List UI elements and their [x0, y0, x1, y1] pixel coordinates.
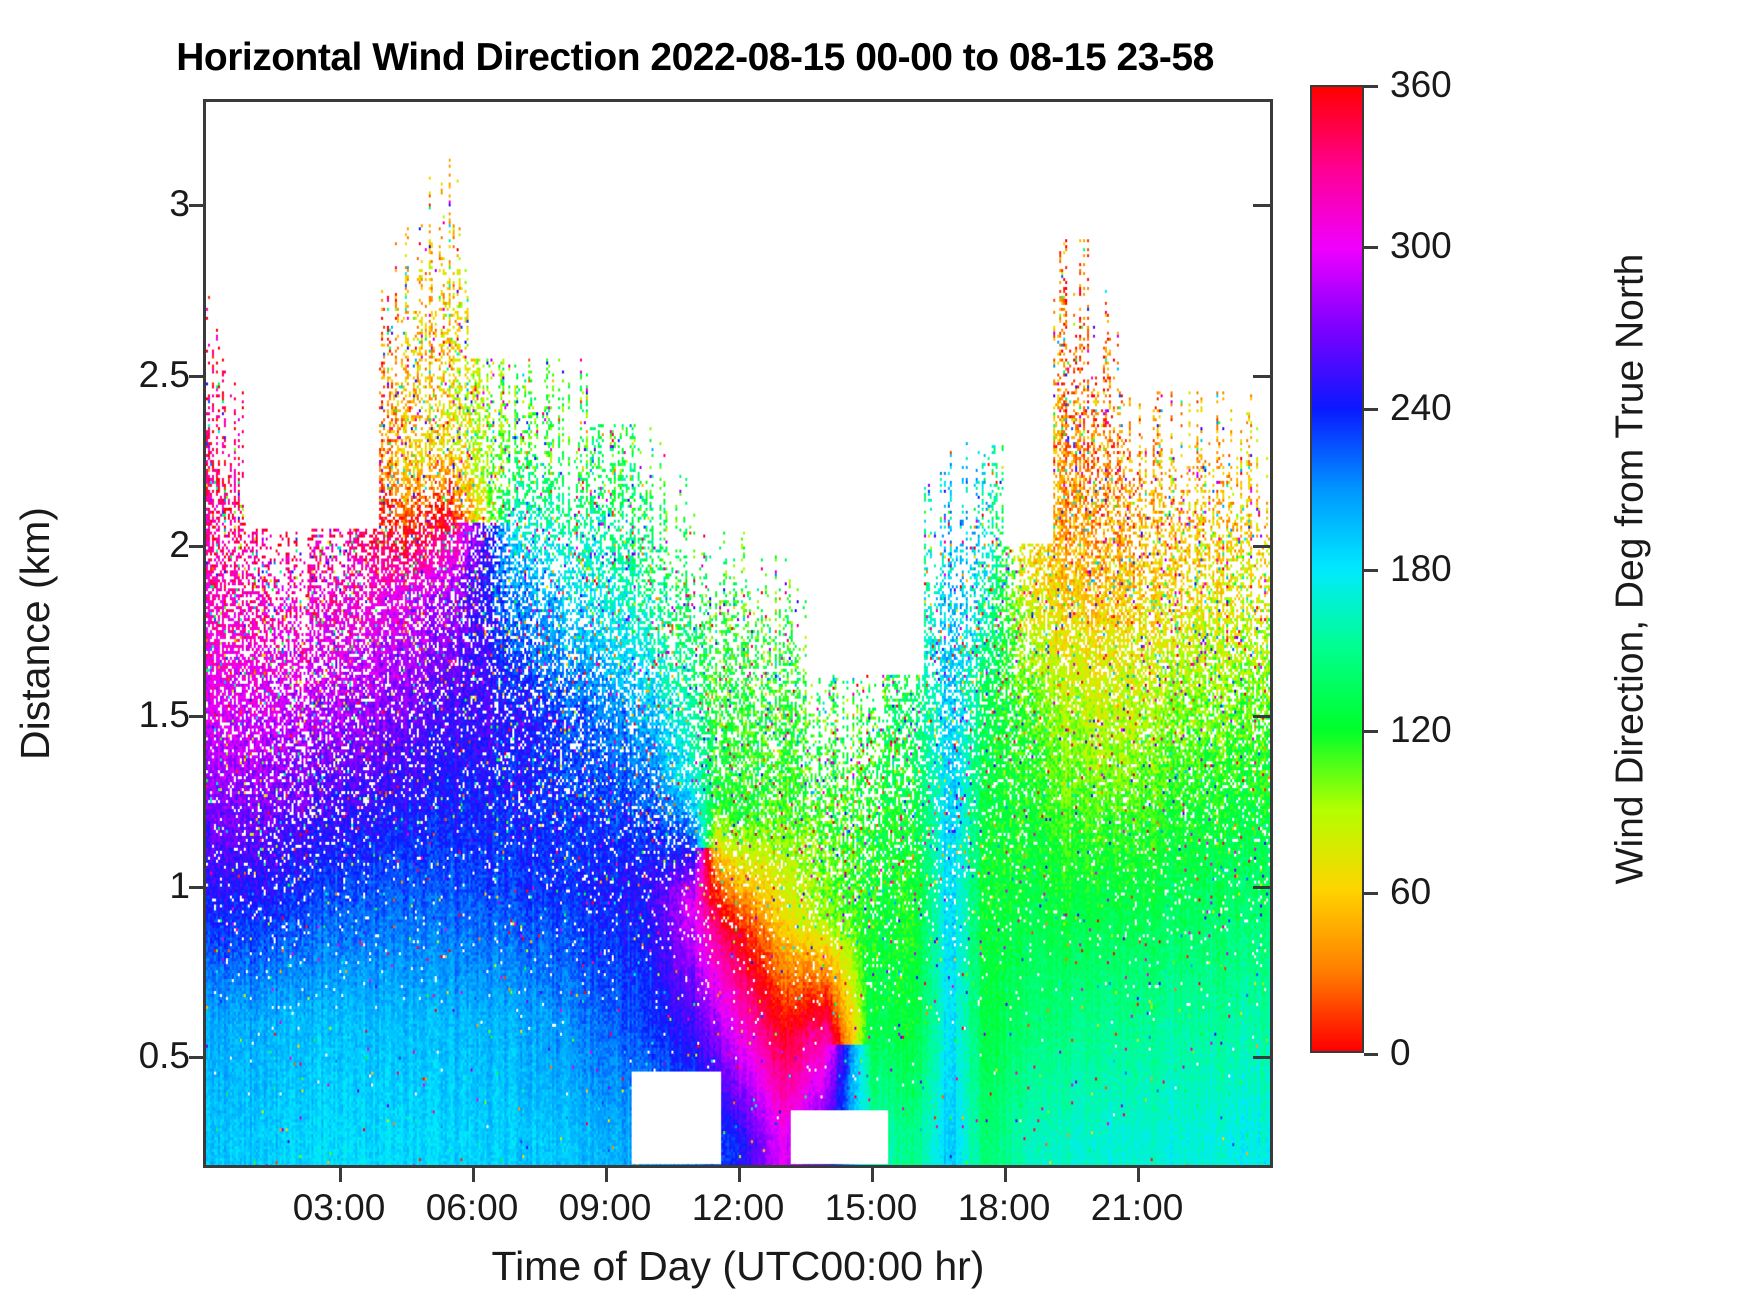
y-axis-tick-inner — [1253, 375, 1270, 378]
x-axis-tick — [1004, 1165, 1007, 1182]
colorbar-tick-label: 360 — [1390, 64, 1452, 106]
y-axis-tick-label: 0.5 — [139, 1035, 190, 1077]
x-axis-tick-label: 03:00 — [293, 1187, 386, 1229]
y-axis-tick-inner — [1253, 204, 1270, 207]
colorbar-tick-label: 120 — [1390, 709, 1452, 751]
wind-direction-heatmap — [206, 102, 1270, 1165]
page-title: Horizontal Wind Direction 2022-08-15 00-… — [0, 36, 1390, 80]
y-axis-tick-inner — [1253, 886, 1270, 889]
y-axis-label: Distance (km) — [0, 99, 70, 1168]
y-axis-tick — [189, 1056, 206, 1059]
x-axis-tick — [339, 1165, 342, 1182]
x-axis-tick — [1137, 1165, 1140, 1182]
y-axis-tick-inner — [1253, 1056, 1270, 1059]
colorbar-tick — [1364, 892, 1378, 895]
y-axis-tick-label: 1.5 — [139, 694, 190, 736]
x-axis-tick-label: 21:00 — [1091, 1187, 1184, 1229]
y-axis-tick — [189, 886, 206, 889]
x-axis-tick-label: 06:00 — [426, 1187, 519, 1229]
colorbar-tick-label: 0 — [1390, 1032, 1411, 1074]
colorbar-tick — [1364, 408, 1378, 411]
colorbar-tick-label: 60 — [1390, 871, 1431, 913]
colorbar-tick — [1364, 85, 1378, 88]
x-axis-tick-label: 18:00 — [958, 1187, 1051, 1229]
y-axis-tick-inner — [1253, 715, 1270, 718]
colorbar-tick — [1364, 1053, 1378, 1056]
colorbar-tick — [1364, 569, 1378, 572]
x-axis-label: Time of Day (UTC00:00 hr) — [203, 1243, 1273, 1290]
x-axis-tick-label: 15:00 — [825, 1187, 918, 1229]
x-axis-tick — [871, 1165, 874, 1182]
colorbar-gradient — [1310, 85, 1364, 1053]
colorbar-tick-label: 240 — [1390, 387, 1452, 429]
x-axis-tick-label: 12:00 — [692, 1187, 785, 1229]
x-axis-tick — [605, 1165, 608, 1182]
x-axis-tick-label: 09:00 — [559, 1187, 652, 1229]
colorbar-label: Wind Direction, Deg from True North — [1590, 85, 1670, 1053]
y-axis-tick — [189, 204, 206, 207]
colorbar-tick-label: 180 — [1390, 548, 1452, 590]
y-axis-tick-label: 2.5 — [139, 354, 190, 396]
y-axis-tick-label: 3 — [169, 183, 190, 225]
x-axis-tick — [738, 1165, 741, 1182]
y-axis-label-text: Distance (km) — [12, 507, 59, 760]
colorbar-label-text: Wind Direction, Deg from True North — [1608, 254, 1652, 885]
y-axis-tick — [189, 545, 206, 548]
y-axis-tick — [189, 715, 206, 718]
colorbar-tick — [1364, 730, 1378, 733]
y-axis-tick-label: 1 — [169, 865, 190, 907]
y-axis-tick-inner — [1253, 545, 1270, 548]
colorbar-tick — [1364, 246, 1378, 249]
y-axis-tick-label: 2 — [169, 524, 190, 566]
plot-axes: 0.511.522.53 03:0006:0009:0012:0015:0018… — [203, 99, 1273, 1168]
colorbar: 060120180240300360 — [1310, 85, 1364, 1053]
x-axis-tick — [472, 1165, 475, 1182]
colorbar-tick-label: 300 — [1390, 225, 1452, 267]
figure-root: Horizontal Wind Direction 2022-08-15 00-… — [0, 0, 1750, 1313]
y-axis-tick — [189, 375, 206, 378]
